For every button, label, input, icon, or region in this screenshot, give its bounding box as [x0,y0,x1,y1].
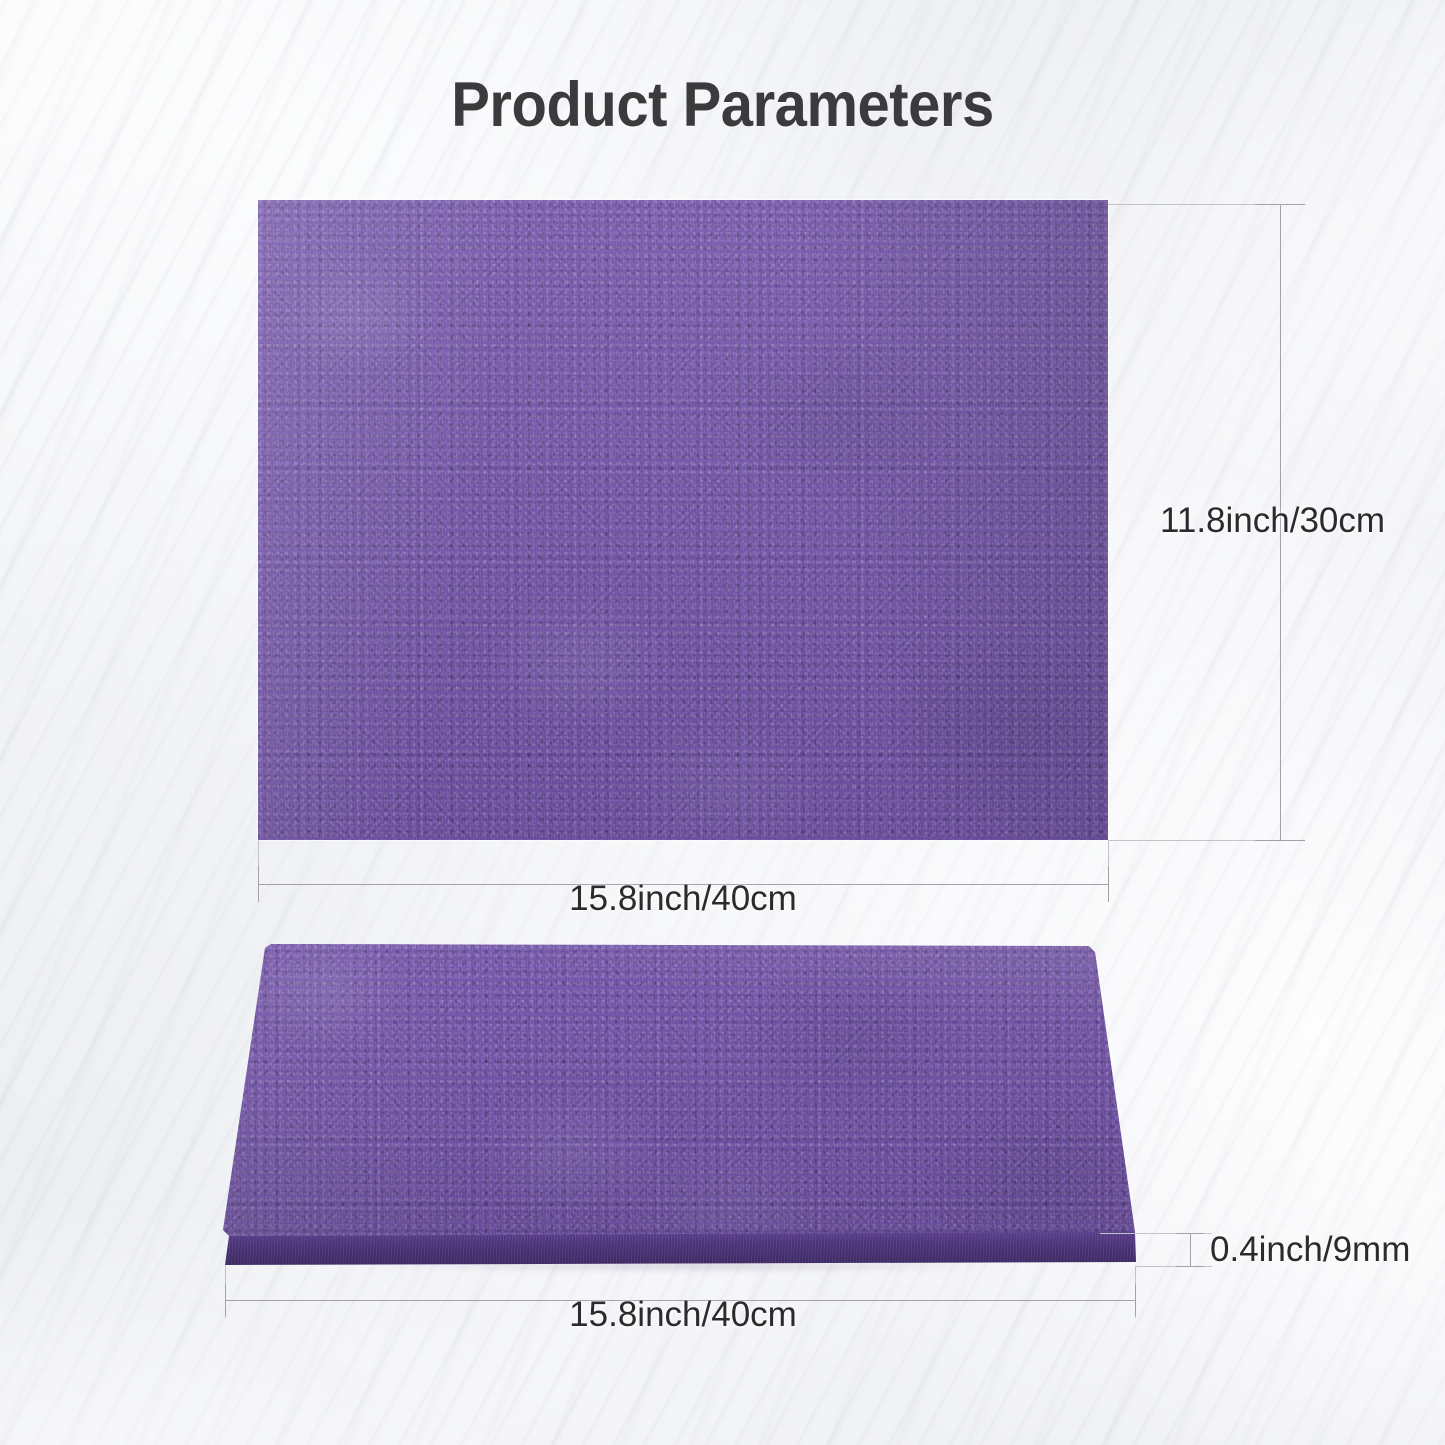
height-dimension-tick-top [1255,204,1305,205]
felt-shading [215,936,1155,1236]
bottom-width-tick-right [1135,1284,1136,1316]
felt-shading [258,200,1108,840]
thickness-dimension-tick-bottom [1176,1266,1204,1267]
perspective-top-face [215,936,1155,1236]
thickness-dimension-tick-top [1176,1233,1204,1234]
page-title: Product Parameters [58,74,1387,137]
bottom-width-tick-left [225,1284,226,1316]
thickness-dimension-label: 0.4inch/9mm [1210,1232,1410,1267]
height-dimension-label: 11.8inch/30cm [1160,503,1385,538]
product-perspective-view [215,936,1155,1281]
bottom-width-dimension-label: 15.8inch/40cm [569,1297,797,1332]
product-front-view [258,200,1108,840]
thickness-dimension-line [1190,1233,1191,1267]
width-dimension-tick-left [258,866,259,902]
width-dimension-tick-right [1108,866,1109,902]
width-dimension-label: 15.8inch/40cm [569,881,797,916]
product-parameters-infographic: Product Parameters 11.8inch/30cm 15.8inc… [0,0,1445,1445]
height-dimension-tick-bottom [1255,840,1305,841]
